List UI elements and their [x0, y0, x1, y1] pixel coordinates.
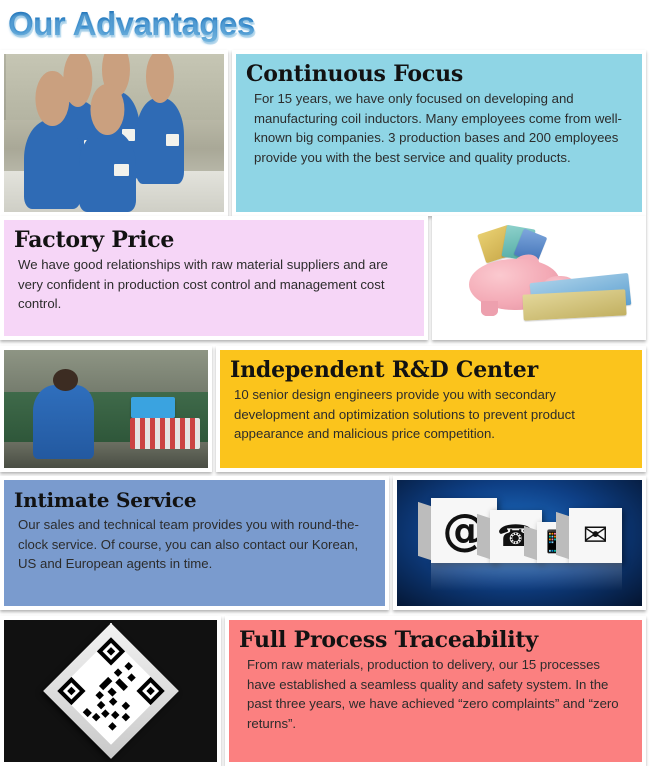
piggy-bank-money-photo — [432, 216, 646, 340]
advantage-row-factory-price: Factory Price We have good relationships… — [0, 216, 650, 340]
advantage-body: For 15 years, we have only focused on de… — [246, 89, 634, 167]
advantage-heading: Full Process Traceability — [239, 625, 634, 655]
contact-icons-cubes-photo: @ ☎ 📱 ✉ — [393, 476, 646, 610]
advantage-heading: Independent R&D Center — [230, 355, 634, 385]
advantage-body: 10 senior design engineers provide you w… — [230, 385, 634, 444]
advantage-text-factory-price: Factory Price We have good relationships… — [0, 216, 428, 340]
advantage-row-intimate-service: Intimate Service Our sales and technical… — [0, 476, 650, 610]
advantage-text-continuous-focus: Continuous Focus For 15 years, we have o… — [232, 50, 646, 216]
advantage-row-full-process-traceability: Full Process Traceability From raw mater… — [0, 616, 650, 766]
advantage-text-full-process-traceability: Full Process Traceability From raw mater… — [225, 616, 646, 766]
advantage-row-continuous-focus: Continuous Focus For 15 years, we have o… — [0, 50, 650, 216]
advantage-body: We have good relationships with raw mate… — [14, 255, 416, 314]
envelope-icon: ✉ — [569, 508, 623, 563]
advantages-infographic: Our Advantages Our Advantages Continuous… — [0, 0, 650, 766]
qr-code-tag-photo — [0, 616, 221, 766]
advantage-heading: Factory Price — [14, 225, 416, 255]
advantage-heading: Continuous Focus — [246, 59, 634, 89]
advantage-heading: Intimate Service — [14, 485, 377, 515]
advantage-body: Our sales and technical team provides yo… — [14, 515, 377, 574]
advantage-body: From raw materials, production to delive… — [239, 655, 634, 733]
page-title: Our Advantages — [8, 2, 255, 46]
advantage-text-intimate-service: Intimate Service Our sales and technical… — [0, 476, 389, 610]
advantage-row-independent-rd-center: Independent R&D Center 10 senior design … — [0, 346, 650, 472]
factory-workers-photo — [0, 50, 228, 216]
advantage-text-independent-rd-center: Independent R&D Center 10 senior design … — [216, 346, 646, 472]
production-line-photo — [0, 346, 212, 472]
